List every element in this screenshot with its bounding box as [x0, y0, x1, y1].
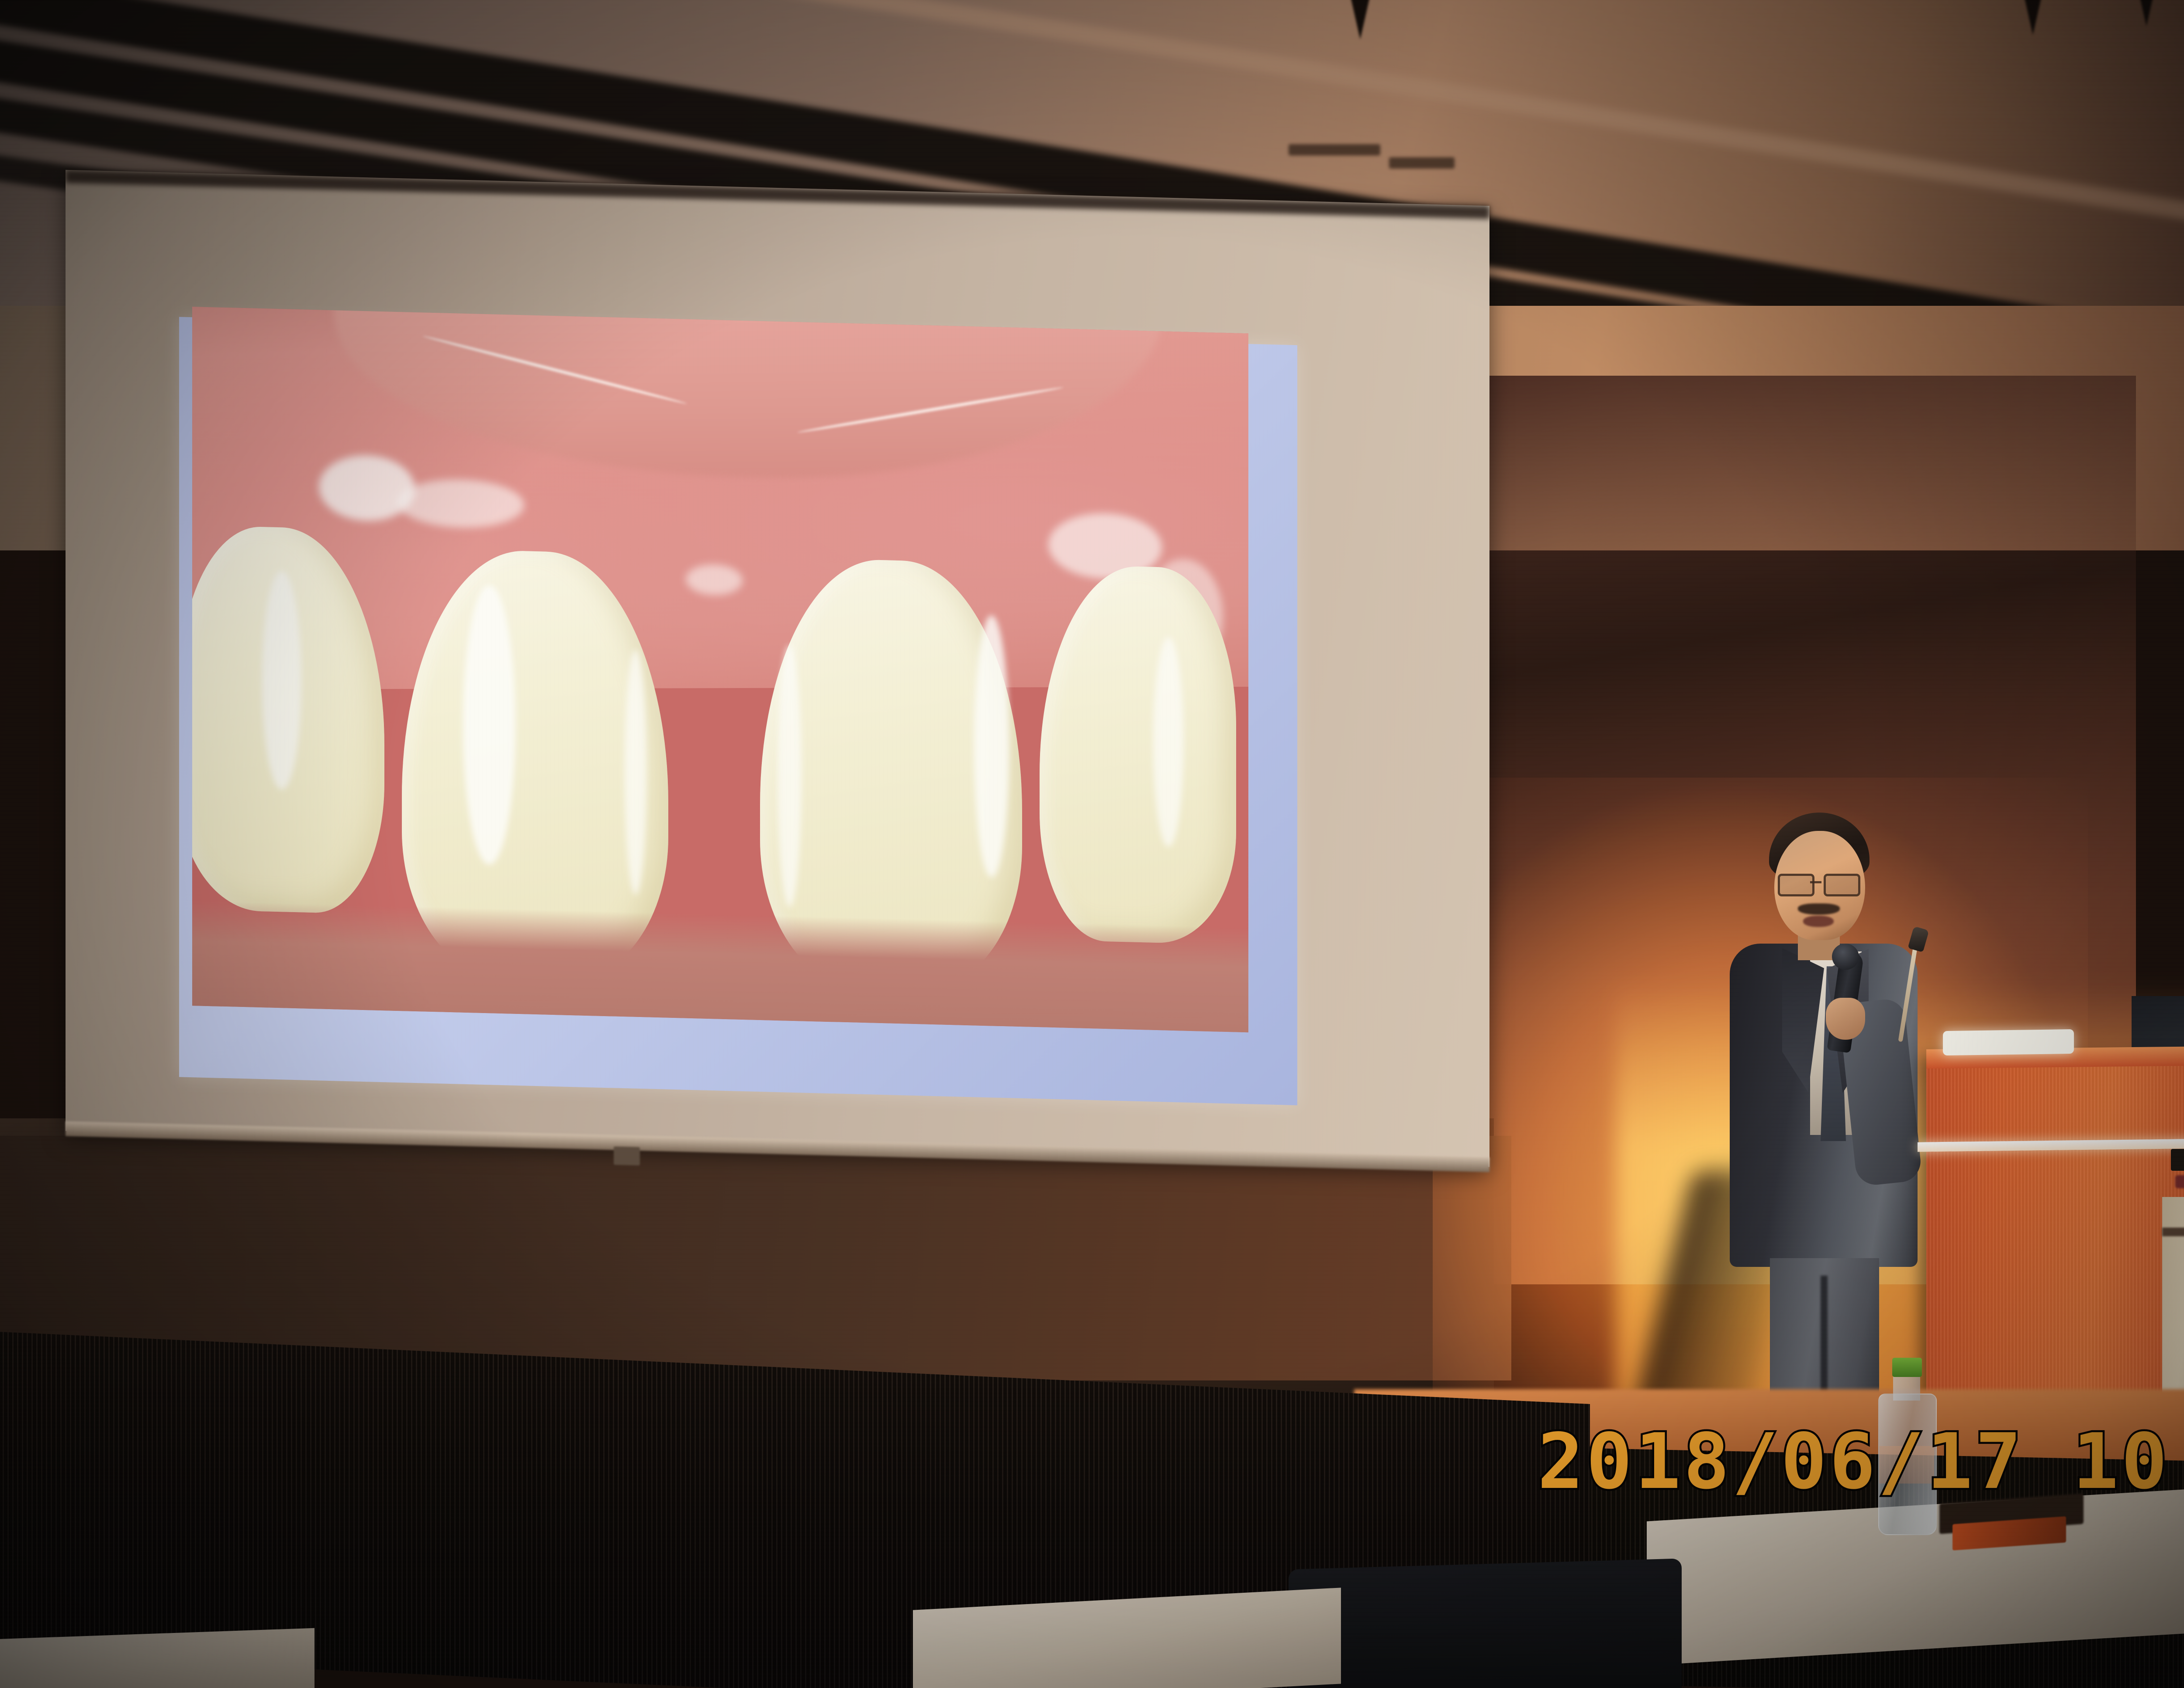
front-table-left — [0, 1628, 314, 1688]
ceiling-fixture-icon — [2132, 0, 2161, 26]
presenter — [1717, 813, 1944, 1424]
water-bottle-cap — [1892, 1358, 1922, 1377]
lecture-hall-photograph: 2018/06/17 10:04 — [0, 0, 2184, 1688]
enamel-highlight — [1153, 637, 1184, 847]
glasses-bridge — [1810, 881, 1821, 883]
enamel-highlight — [625, 650, 646, 895]
side-counter-edge — [2162, 1228, 2184, 1236]
clinical-dental-photo — [192, 307, 1248, 1032]
enamel-highlight — [974, 615, 1009, 878]
glasses-lens-left — [1778, 874, 1814, 896]
moustache — [1798, 903, 1840, 915]
conference-chair — [1289, 1558, 1682, 1688]
screen-pull-tab — [614, 1147, 640, 1166]
glasses-lens-right — [1824, 874, 1860, 896]
ceiling-vent — [1389, 157, 1455, 169]
camera-date-timestamp: 2018/06/17 10:04 — [1538, 1418, 2184, 1506]
projection-screen — [66, 170, 1489, 1167]
projected-slide — [179, 317, 1297, 1105]
eyeglasses-icon — [1778, 874, 1863, 893]
enamel-highlight — [463, 585, 515, 865]
enamel-highlight — [778, 645, 802, 907]
side-counter-object — [2171, 1149, 2184, 1171]
lectern-paper — [1943, 1029, 2074, 1055]
hand — [1826, 998, 1865, 1040]
mouth — [1803, 916, 1834, 927]
side-counter-object — [2175, 1175, 2184, 1188]
ceiling-fixture-icon — [1345, 0, 1375, 39]
enamel-highlight — [262, 571, 301, 790]
ceiling-vent — [1289, 144, 1380, 156]
ceiling-fixture-icon — [2018, 0, 2048, 35]
